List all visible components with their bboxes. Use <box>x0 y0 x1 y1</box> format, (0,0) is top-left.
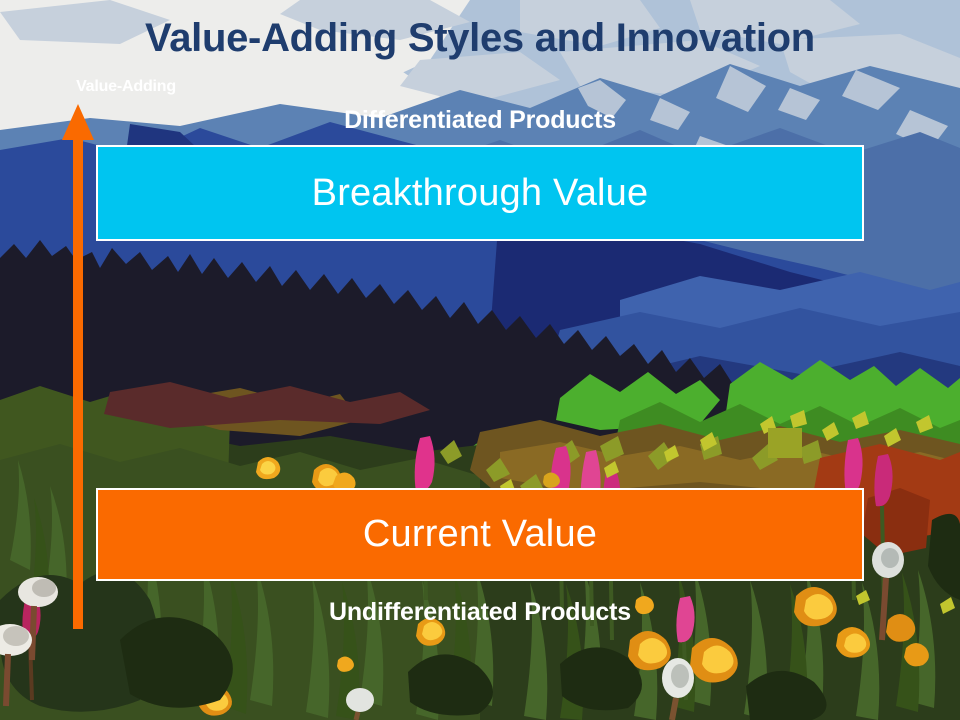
slide-canvas: Value-Adding Styles and Innovation Value… <box>0 0 960 720</box>
breakthrough-value-box[interactable]: Breakthrough Value <box>96 145 864 241</box>
caption-differentiated-products: Differentiated Products <box>0 106 960 135</box>
current-value-box[interactable]: Current Value <box>96 488 864 581</box>
page-title: Value-Adding Styles and Innovation <box>0 16 960 60</box>
value-adding-axis-label: Value-Adding <box>36 78 216 96</box>
breakthrough-value-label: Breakthrough Value <box>312 172 649 215</box>
current-value-label: Current Value <box>363 513 597 556</box>
content-overlay: Value-Adding Styles and Innovation Value… <box>0 0 960 720</box>
caption-undifferentiated-products: Undifferentiated Products <box>0 598 960 627</box>
arrow-up-icon <box>58 104 98 629</box>
